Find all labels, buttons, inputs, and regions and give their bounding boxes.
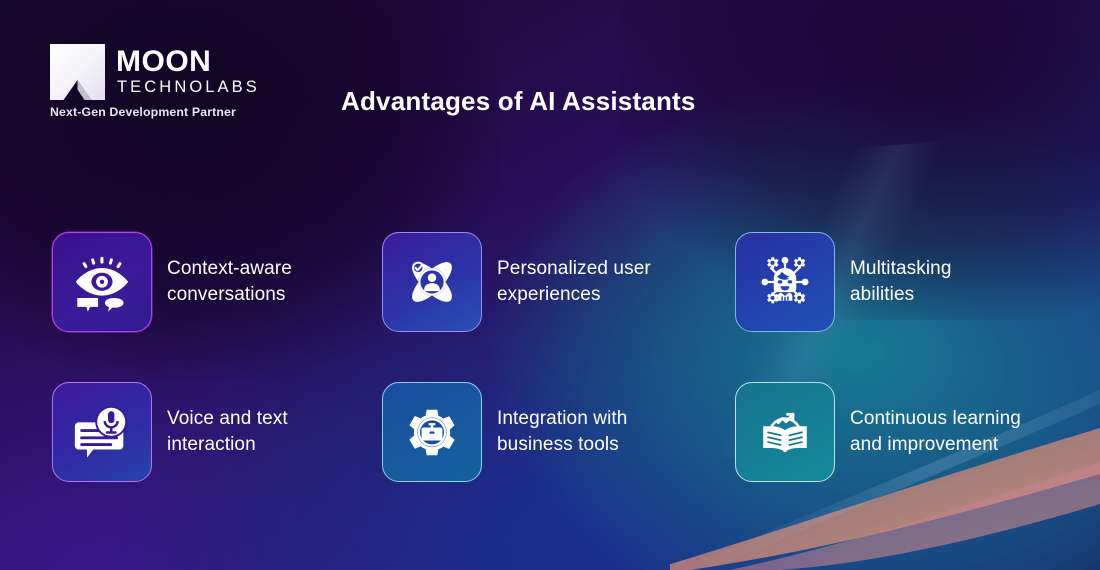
eye-with-speech-bubbles-icon bbox=[52, 232, 152, 332]
user-orbit-verified-icon bbox=[382, 232, 482, 332]
robot-head-network-gears-icon bbox=[735, 232, 835, 332]
brand-tagline: Next-Gen Development Partner bbox=[50, 105, 260, 119]
brand-name-secondary: TECHNOLABS bbox=[116, 77, 260, 97]
advantage-item-personalized-user-experiences[interactable]: Personalized user experiences bbox=[382, 207, 735, 357]
advantage-label: Voice and text interaction bbox=[167, 406, 288, 458]
mountain-logo-icon bbox=[50, 44, 105, 100]
brand-logo[interactable]: MOON TECHNOLABS Next-Gen Development Par… bbox=[50, 44, 260, 119]
advantage-label: Integration with business tools bbox=[497, 406, 627, 458]
advantage-item-voice-and-text-interaction[interactable]: Voice and text interaction bbox=[52, 357, 382, 507]
advantages-grid: Context-aware conversations bbox=[52, 207, 1072, 507]
advantage-label: Context-aware conversations bbox=[167, 256, 292, 308]
advantage-label: Personalized user experiences bbox=[497, 256, 651, 308]
speech-bubble-microphone-icon bbox=[52, 382, 152, 482]
advantage-label: Multitasking abilities bbox=[850, 256, 952, 308]
infographic-canvas: MOON TECHNOLABS Next-Gen Development Par… bbox=[0, 0, 1100, 570]
advantage-item-integration-with-business-tools[interactable]: Integration with business tools bbox=[382, 357, 735, 507]
brand-name-primary: MOON bbox=[116, 47, 260, 77]
advantage-item-continuous-learning-and-improvement[interactable]: Continuous learning and improvement bbox=[735, 357, 1072, 507]
gear-briefcase-icon bbox=[382, 382, 482, 482]
advantage-item-context-aware-conversations[interactable]: Context-aware conversations bbox=[52, 207, 382, 357]
page-title: Advantages of AI Assistants bbox=[341, 86, 696, 117]
open-book-growth-arrow-icon bbox=[735, 382, 835, 482]
advantage-item-multitasking-abilities[interactable]: Multitasking abilities bbox=[735, 207, 1072, 357]
advantage-label: Continuous learning and improvement bbox=[850, 406, 1021, 458]
